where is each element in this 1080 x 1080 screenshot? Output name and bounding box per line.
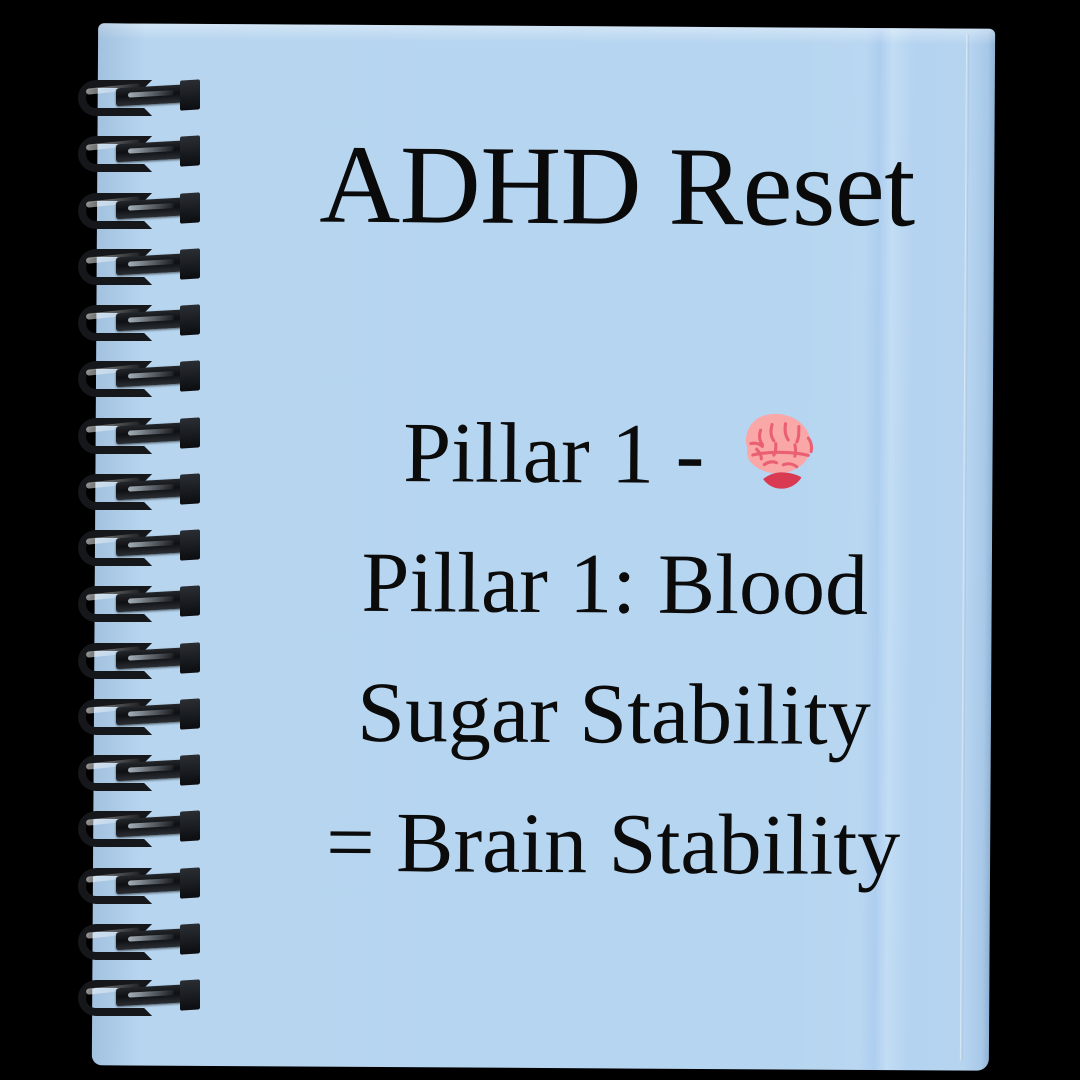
spiral-ring bbox=[72, 528, 198, 568]
spiral-ring bbox=[72, 134, 198, 174]
cover-line-2: Pillar 1: Blood bbox=[244, 516, 985, 651]
spiral-ring-tip bbox=[180, 867, 200, 898]
spiral-ring-tip bbox=[180, 136, 200, 167]
spiral-ring bbox=[72, 978, 198, 1018]
spiral-binding bbox=[72, 78, 212, 1018]
spiral-ring bbox=[72, 922, 198, 962]
cover-line-4: = Brain Stability bbox=[243, 776, 984, 911]
spiral-ring bbox=[72, 866, 198, 906]
spiral-ring bbox=[72, 78, 198, 118]
spiral-ring bbox=[72, 584, 198, 624]
spiral-ring-tip bbox=[180, 979, 200, 1010]
spiral-ring-tip bbox=[180, 417, 200, 448]
spiral-ring bbox=[72, 359, 198, 399]
spiral-ring bbox=[72, 247, 198, 287]
spiral-ring-tip bbox=[180, 754, 200, 785]
spiral-ring-tip bbox=[180, 248, 200, 279]
spiral-notebook-cover: ADHD Reset Pillar 1 - bbox=[92, 23, 995, 1070]
spiral-ring-tip bbox=[180, 304, 200, 335]
spiral-ring-tip bbox=[180, 473, 200, 504]
spiral-ring-tip bbox=[180, 811, 200, 842]
brain-emoji bbox=[732, 399, 829, 488]
cover-text-block: Pillar 1 - bbox=[243, 386, 986, 911]
spiral-ring-tip bbox=[180, 698, 200, 729]
spiral-ring-tip bbox=[180, 923, 200, 954]
spiral-ring-tip bbox=[180, 192, 200, 223]
spiral-ring-tip bbox=[180, 529, 200, 560]
spiral-ring bbox=[72, 472, 198, 512]
cover-content: ADHD Reset Pillar 1 - bbox=[242, 24, 988, 1071]
spiral-ring-tip bbox=[180, 361, 200, 392]
cover-line-3: Sugar Stability bbox=[244, 646, 985, 781]
spiral-ring bbox=[72, 809, 198, 849]
spiral-ring-tip bbox=[180, 586, 200, 617]
cover-line-1: Pillar 1 - bbox=[245, 386, 986, 521]
spiral-ring bbox=[72, 303, 198, 343]
cover-line-1-text: Pillar 1 - bbox=[403, 404, 726, 502]
spiral-ring bbox=[72, 641, 198, 681]
spiral-ring bbox=[72, 191, 198, 231]
spiral-ring bbox=[72, 697, 198, 737]
page-title: ADHD Reset bbox=[247, 128, 988, 245]
spiral-ring-tip bbox=[180, 79, 200, 110]
spiral-ring bbox=[72, 416, 198, 456]
spiral-ring bbox=[72, 753, 198, 793]
spiral-ring-tip bbox=[180, 642, 200, 673]
screenshot-canvas: ADHD Reset Pillar 1 - bbox=[0, 0, 1080, 1080]
